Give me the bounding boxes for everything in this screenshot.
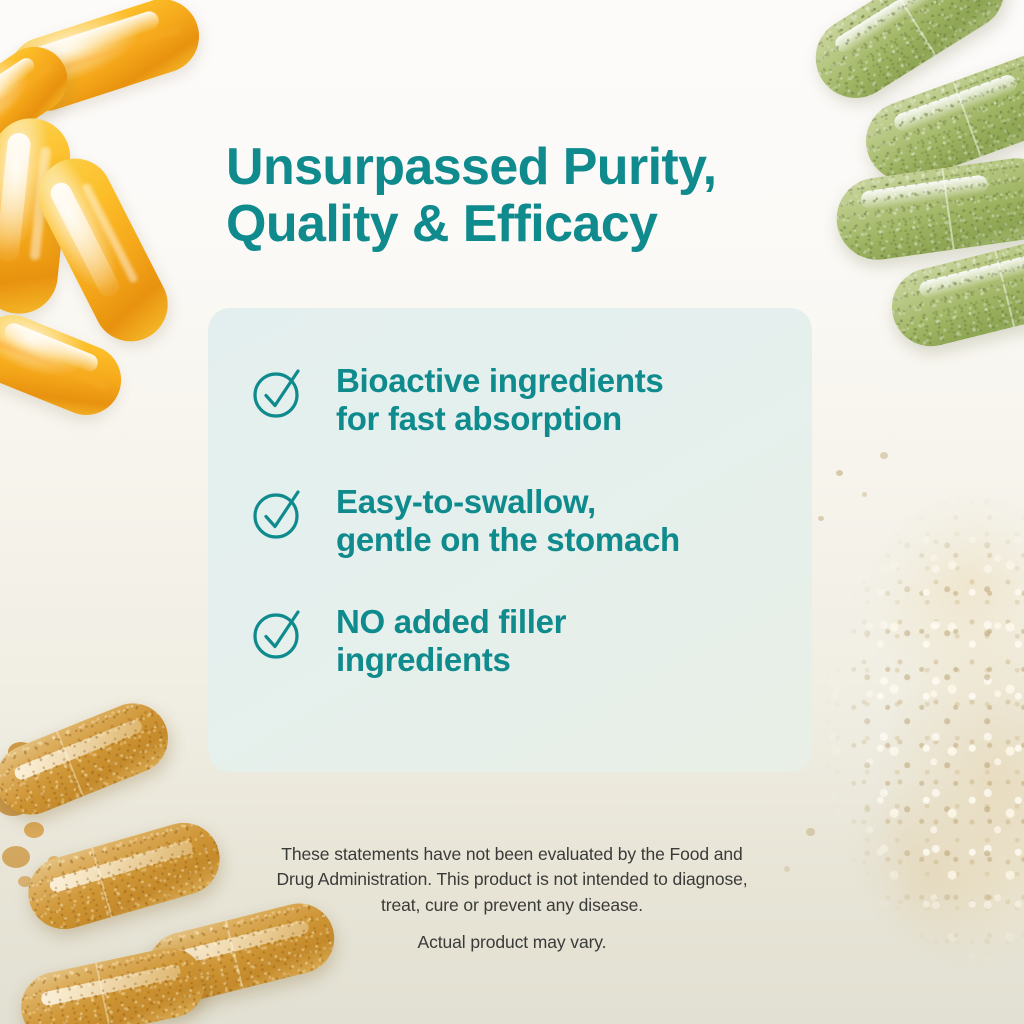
softgel-capsule	[0, 34, 80, 156]
powder-speck	[880, 452, 888, 459]
herbal-capsule	[884, 228, 1024, 355]
fda-disclaimer: These statements have not been evaluated…	[200, 842, 824, 918]
powder-speck	[836, 470, 843, 476]
benefit-line-1: Bioactive ingredients	[336, 362, 663, 400]
softgel-capsule	[0, 114, 74, 317]
promo-graphic: Unsurpassed Purity, Quality & Efficacy B…	[0, 0, 1024, 1024]
herbal-capsule	[831, 153, 1024, 265]
benefit-line-2: for fast absorption	[336, 400, 663, 438]
check-circle-icon	[250, 364, 306, 420]
check-circle-icon	[250, 605, 306, 661]
powder-speck	[24, 822, 44, 838]
actual-product-note: Actual product may vary.	[200, 932, 824, 953]
softgel-capsule	[0, 304, 132, 425]
benefit-line-2: ingredients	[336, 641, 566, 679]
powder-speck	[18, 876, 32, 887]
benefits-list: Bioactive ingredients for fast absorptio…	[250, 360, 786, 680]
benefit-line-1: NO added filler	[336, 603, 566, 641]
herbal-capsule	[801, 0, 1020, 113]
disclaimer-line-3: treat, cure or prevent any disease.	[200, 893, 824, 918]
benefit-label: Easy-to-swallow, gentle on the stomach	[336, 481, 680, 560]
powder-speck	[862, 492, 867, 497]
benefit-label: NO added filler ingredients	[336, 601, 566, 680]
turmeric-capsule	[15, 941, 211, 1024]
softgel-capsule	[26, 146, 181, 354]
powder-speck	[0, 790, 30, 816]
powder-speck	[818, 516, 824, 521]
list-item: Easy-to-swallow, gentle on the stomach	[250, 481, 786, 560]
benefits-card: Bioactive ingredients for fast absorptio…	[208, 308, 812, 772]
powder-speck	[2, 846, 30, 868]
powder-speck	[36, 766, 52, 779]
check-circle-icon	[250, 485, 306, 541]
herbal-capsule	[855, 43, 1024, 192]
page-title: Unsurpassed Purity, Quality & Efficacy	[226, 139, 846, 253]
powder-speck	[48, 856, 60, 866]
benefit-label: Bioactive ingredients for fast absorptio…	[336, 360, 663, 439]
softgel-capsule	[0, 0, 209, 120]
turmeric-capsule	[0, 693, 179, 825]
headline-line-2: Quality & Efficacy	[226, 196, 846, 253]
list-item: Bioactive ingredients for fast absorptio…	[250, 360, 786, 439]
powder-speck	[806, 828, 815, 836]
headline-line-1: Unsurpassed Purity,	[226, 139, 846, 196]
powder-speck	[8, 742, 34, 762]
disclaimer-line-2: Drug Administration. This product is not…	[200, 867, 824, 892]
benefit-line-1: Easy-to-swallow,	[336, 483, 680, 521]
benefit-line-2: gentle on the stomach	[336, 521, 680, 559]
list-item: NO added filler ingredients	[250, 601, 786, 680]
disclaimer-line-1: These statements have not been evaluated…	[200, 842, 824, 867]
turmeric-capsule	[20, 814, 228, 937]
